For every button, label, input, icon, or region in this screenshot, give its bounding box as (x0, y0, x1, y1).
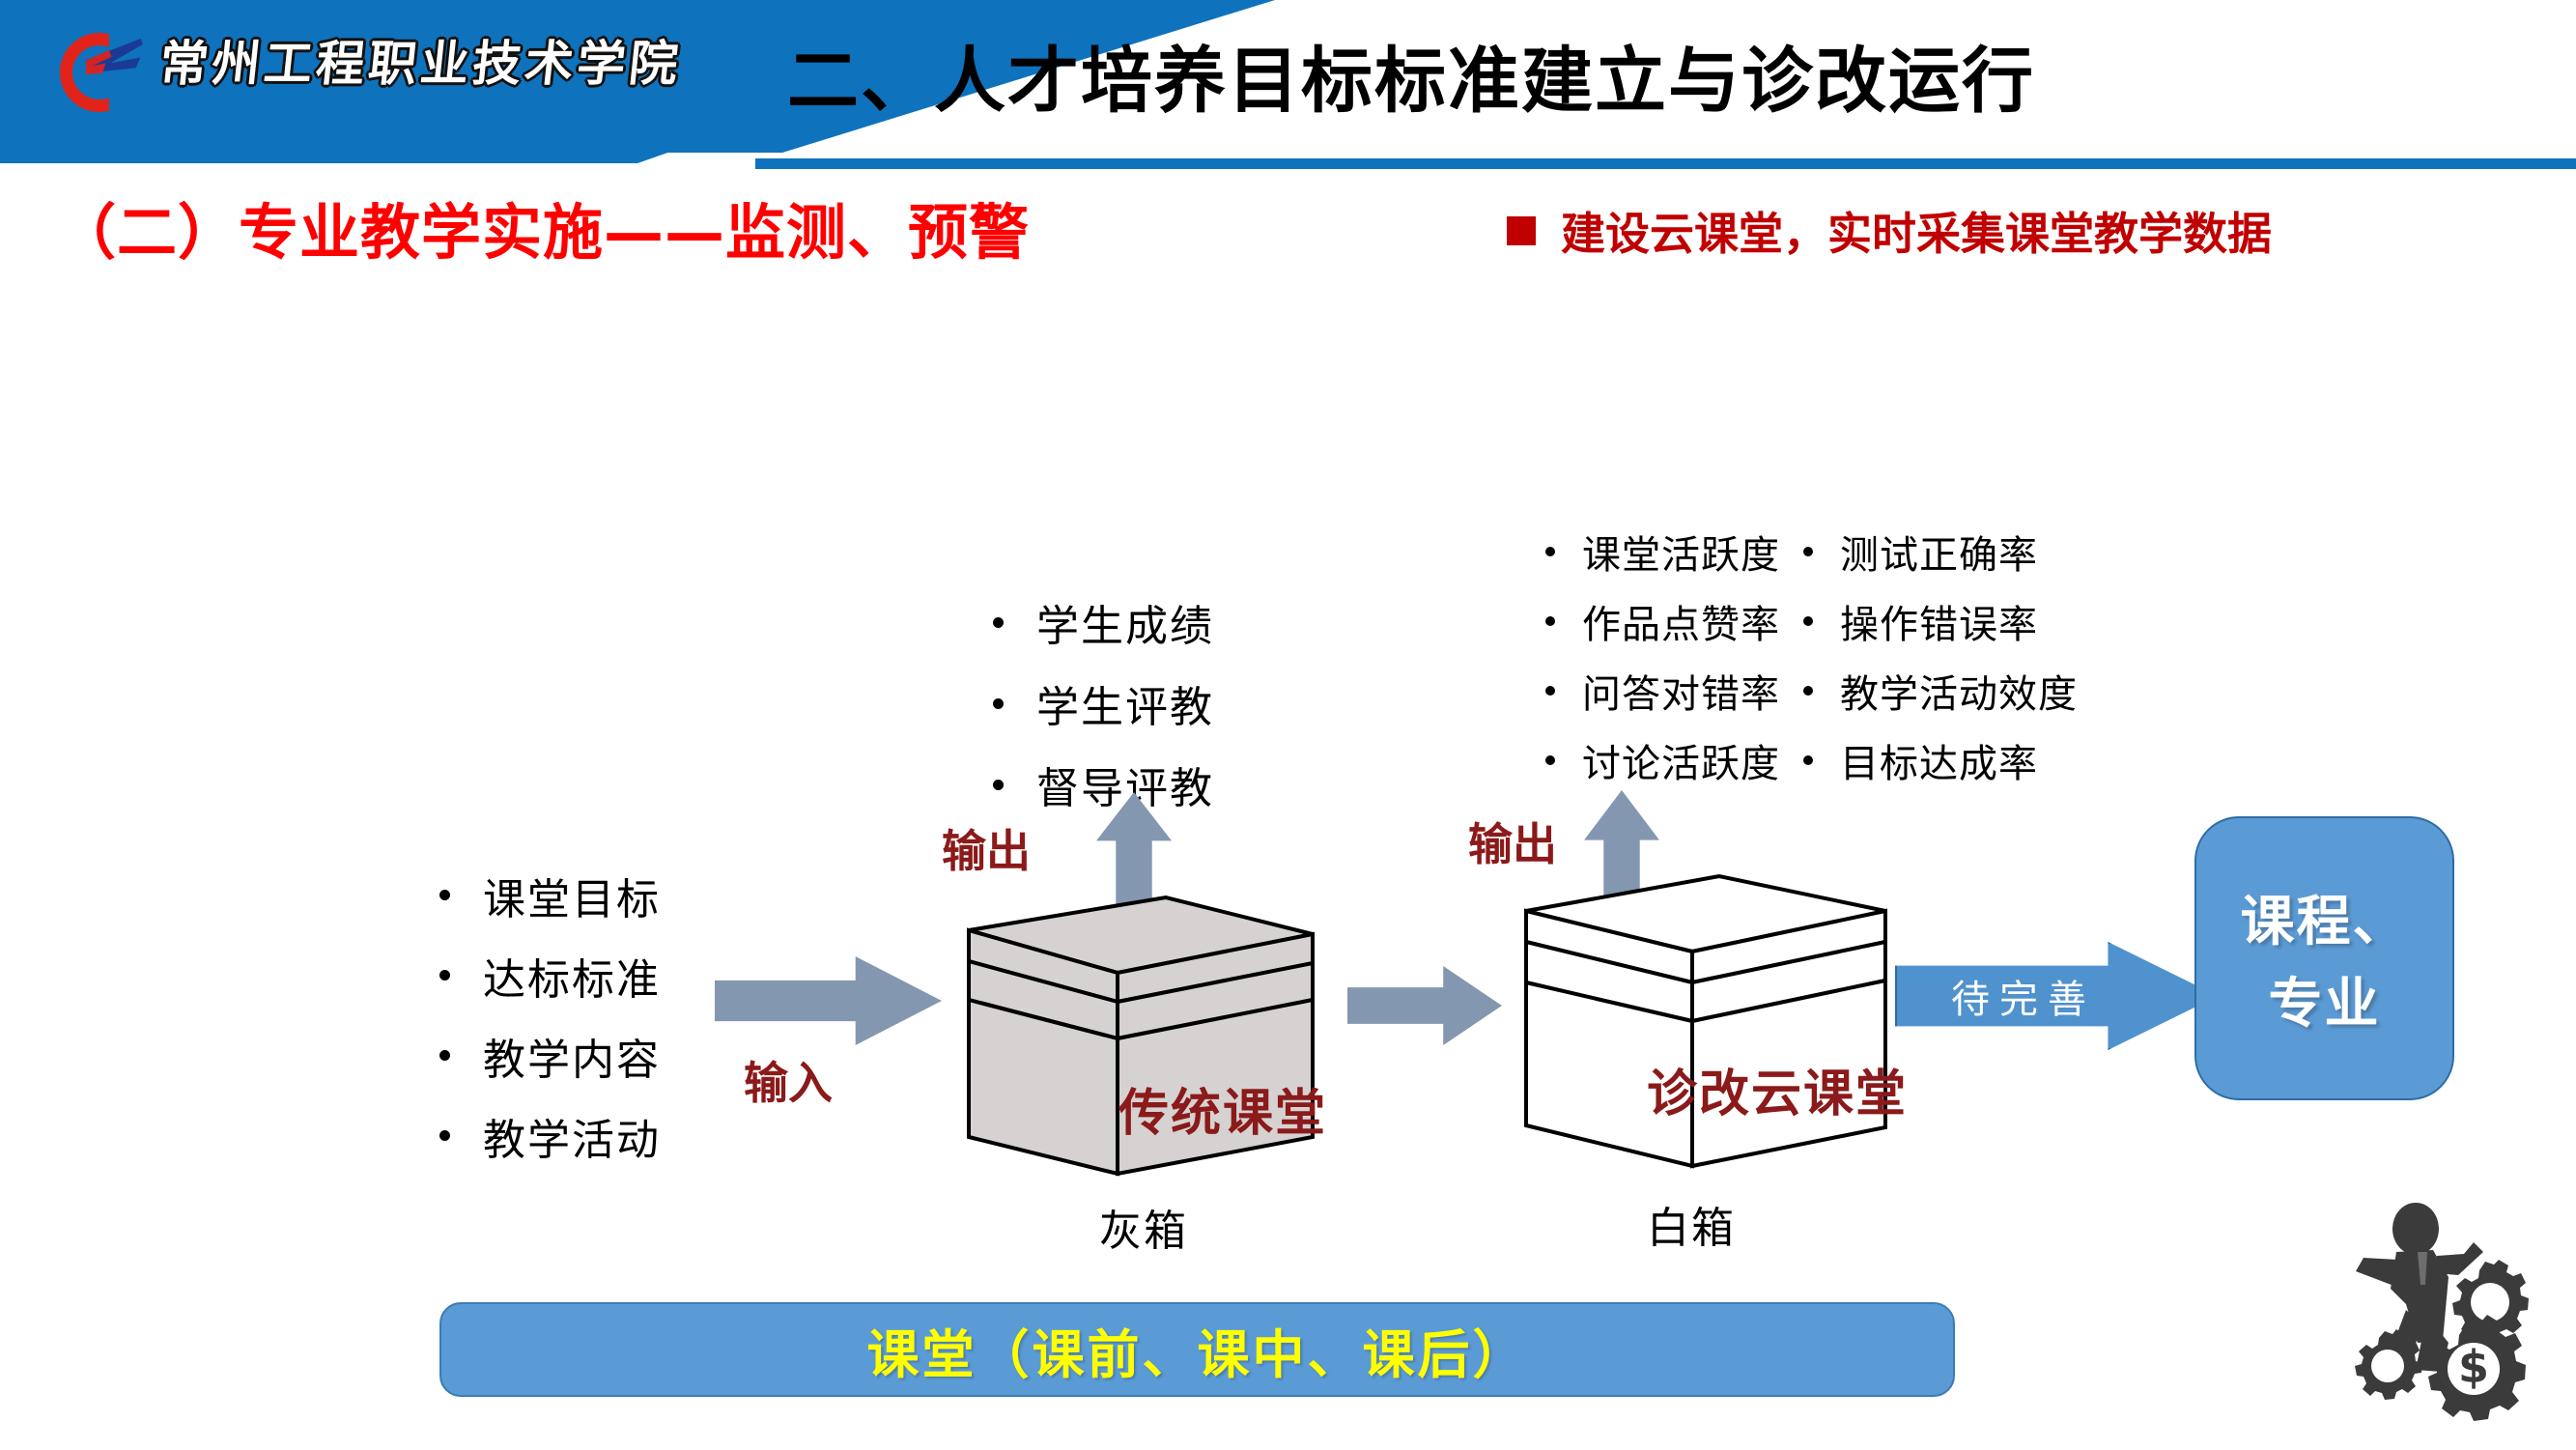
white-box-sublabel: 白箱 (1647, 1193, 1736, 1255)
list-item-label: 讨论活跃度 (1582, 732, 1780, 788)
list-item: 测试正确率 (1803, 517, 2078, 586)
list-item-label: 达标标准 (483, 945, 661, 1007)
list-item-label: 目标达成率 (1840, 732, 2038, 788)
list-item-label: 学生评教 (1036, 672, 1214, 734)
list-item-label: 教学活动效度 (1840, 663, 2078, 719)
headline-callout: 建设云课堂，实时采集课堂教学数据 (1507, 199, 2272, 263)
list-item: 作品点赞率 (1545, 586, 1780, 656)
list-item-label: 学生成绩 (1036, 591, 1214, 653)
svg-text:$: $ (2458, 1341, 2489, 1393)
list-item: 目标达成率 (1803, 725, 2078, 795)
list-item: 讨论活跃度 (1545, 725, 1780, 795)
bullet-dot-icon (993, 698, 1004, 709)
gray-box-shape: 传统课堂 (913, 884, 1318, 1193)
list-item: 问答对错率 (1545, 656, 1780, 725)
bullet-dot-icon (439, 1050, 450, 1061)
input-arrow-icon (715, 956, 942, 1045)
bullet-dot-icon (439, 890, 450, 900)
input-arrow-label: 输入 (744, 1048, 833, 1112)
bullet-dot-icon (1803, 755, 1813, 765)
bullet-dot-icon (1803, 616, 1813, 626)
cloud-metrics-bullet-lists: 课堂活跃度 作品点赞率 问答对错率 讨论活跃度 测试正确率 操作错误率 教学活动… (1545, 517, 2078, 795)
white-box-caption: 诊改云课堂 (1647, 1053, 1908, 1125)
header-divider (755, 158, 2576, 169)
course-major-line-1: 课程、 (2241, 878, 2409, 956)
page-title: 二、人才培养目标标准建立与诊改运行 (787, 21, 2526, 128)
white-box-shape: 诊改云课堂 (1507, 865, 1893, 1183)
classroom-phases-bar: 课堂（课前、课中、课后） (439, 1302, 1955, 1397)
list-item: 教学活动效度 (1803, 656, 2078, 725)
list-item-label: 作品点赞率 (1582, 593, 1780, 649)
section-subtitle: （二）专业教学实施——监测、预警 (56, 184, 1030, 270)
course-major-panel: 课程、 专业 (2194, 816, 2454, 1100)
bullet-dot-icon (1545, 547, 1555, 556)
header-banner-underbar (0, 150, 676, 163)
cloud-metrics-column-right: 测试正确率 操作错误率 教学活动效度 目标达成率 (1803, 517, 2078, 795)
bullet-dot-icon (993, 780, 1004, 790)
list-item-label: 问答对错率 (1582, 663, 1780, 719)
output-arrow-label-1: 输出 (942, 816, 1031, 880)
school-name-text: 常州工程职业技术学院 (156, 25, 686, 95)
list-item: 教学内容 (439, 1015, 661, 1095)
bullet-dot-icon (1545, 686, 1555, 696)
list-item: 操作错误率 (1803, 586, 2078, 656)
cloud-metrics-column-left: 课堂活跃度 作品点赞率 问答对错率 讨论活跃度 (1545, 517, 1780, 795)
course-major-line-2: 专业 (2269, 960, 2381, 1038)
bullet-dot-icon (1545, 616, 1555, 626)
list-item: 教学活动 (439, 1095, 661, 1176)
list-item: 学生评教 (993, 663, 1214, 744)
square-bullet-icon (1507, 216, 1536, 245)
list-item: 学生成绩 (993, 582, 1214, 663)
list-item-label: 课堂目标 (483, 865, 661, 926)
bullet-dot-icon (1803, 686, 1813, 696)
traditional-output-bullet-list: 学生成绩 学生评教 督导评教 (993, 582, 1214, 825)
list-item-label: 测试正确率 (1840, 524, 2038, 580)
school-logo: 常州工程职业技术学院 (60, 25, 682, 95)
list-item-label: 教学内容 (483, 1025, 661, 1087)
gray-box-sublabel: 灰箱 (1099, 1196, 1188, 1258)
list-item: 课堂活跃度 (1545, 517, 1780, 586)
bullet-dot-icon (1545, 755, 1555, 765)
list-item: 督导评教 (993, 744, 1214, 825)
list-item-label: 课堂活跃度 (1582, 524, 1780, 580)
bullet-dot-icon (439, 970, 450, 981)
list-item-label: 操作错误率 (1840, 593, 2038, 649)
classroom-phases-label: 课堂（课前、课中、课后） (867, 1312, 1528, 1388)
gray-box-caption: 传统课堂 (1118, 1072, 1327, 1145)
bullet-dot-icon (1803, 547, 1813, 556)
list-item: 达标标准 (439, 935, 661, 1015)
final-arrow-icon: 待完善 (1895, 942, 2218, 1050)
final-arrow-label: 待完善 (1951, 968, 2096, 1024)
transition-arrow-icon (1347, 966, 1502, 1045)
list-item: 课堂目标 (439, 855, 661, 935)
headline-callout-text: 建设云课堂，实时采集课堂教学数据 (1561, 199, 2272, 263)
list-item-label: 教学活动 (483, 1105, 661, 1167)
school-emblem-icon (60, 29, 143, 91)
bullet-dot-icon (439, 1130, 450, 1141)
businessman-gears-icon: $ (2313, 1196, 2555, 1437)
bullet-dot-icon (993, 617, 1004, 628)
input-bullet-list: 课堂目标 达标标准 教学内容 教学活动 (439, 855, 661, 1176)
